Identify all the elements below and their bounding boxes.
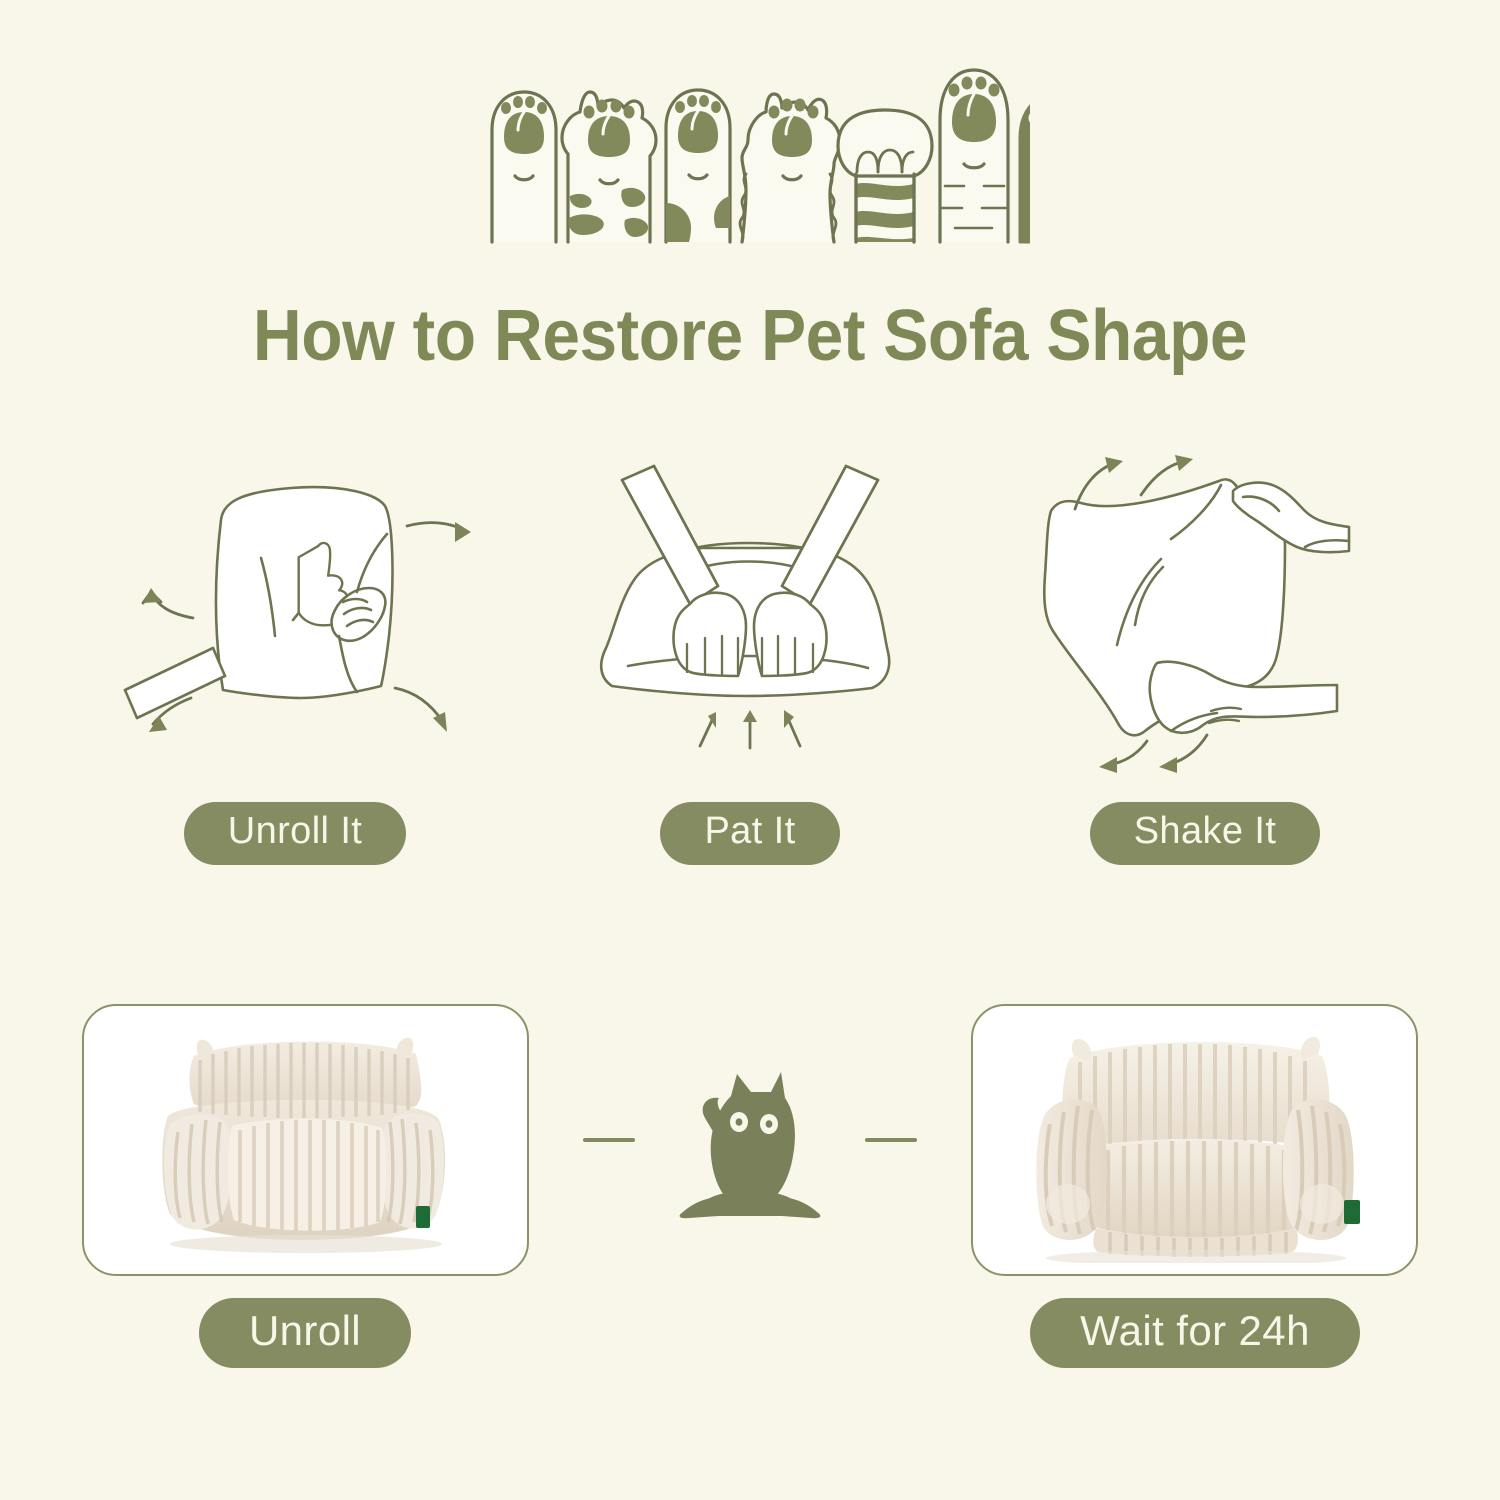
pat-illustration xyxy=(550,430,950,780)
after-photo-card xyxy=(971,1004,1418,1276)
infographic-page: How to Restore Pet Sofa Shape xyxy=(0,0,1500,1500)
step-label-pat-it: Pat It xyxy=(660,802,839,865)
before-photo-card xyxy=(82,1004,529,1276)
paw-banner-decoration xyxy=(0,62,1500,247)
result-labels-row: Unroll Wait for 24h xyxy=(0,1298,1500,1368)
step-unroll-it: Unroll It xyxy=(95,430,495,865)
result-label-wait: Wait for 24h xyxy=(1030,1298,1360,1368)
steps-row: Unroll It xyxy=(0,430,1500,865)
page-title: How to Restore Pet Sofa Shape xyxy=(45,300,1455,372)
step-pat-it: Pat It xyxy=(550,430,950,865)
divider-dash-left xyxy=(583,1138,635,1142)
brand-tag-icon xyxy=(1344,1200,1360,1224)
brand-tag-icon xyxy=(416,1206,430,1228)
divider-dash-right xyxy=(865,1138,917,1142)
after-label-slot: Wait for 24h xyxy=(965,1298,1425,1368)
shake-illustration xyxy=(1005,430,1405,780)
before-label-slot: Unroll xyxy=(75,1298,535,1368)
result-label-unroll: Unroll xyxy=(199,1298,411,1368)
unroll-illustration xyxy=(95,430,495,780)
step-shake-it: Shake It xyxy=(1005,430,1405,865)
result-row xyxy=(0,995,1500,1285)
step-label-shake-it: Shake It xyxy=(1090,802,1321,865)
cat-mascot-icon xyxy=(675,1060,825,1220)
step-label-unroll-it: Unroll It xyxy=(184,802,407,865)
transition-divider xyxy=(529,1040,971,1240)
